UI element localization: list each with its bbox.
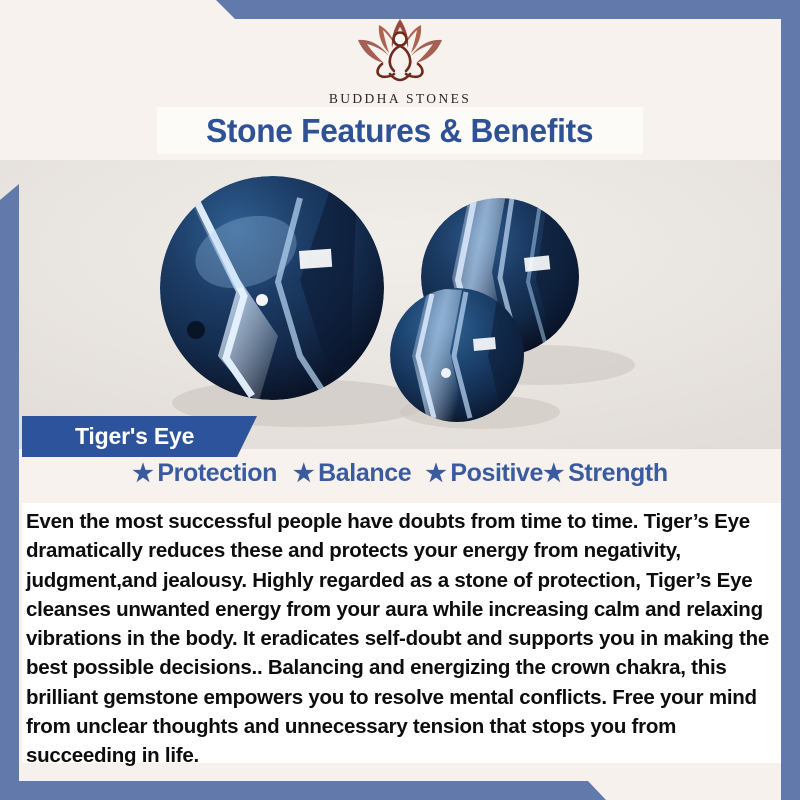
benefit-item-balance: ★ Balance <box>293 459 411 488</box>
stone-photo-illustration <box>0 160 800 449</box>
benefit-item-strength: ★ Strength <box>543 459 668 488</box>
description-text: Even the most successful people have dou… <box>22 503 782 771</box>
benefits-list: ★ Protection ★ Balance ★ Positive ★ Stre… <box>0 459 800 488</box>
stone-photo <box>0 160 800 449</box>
frame-accent-right <box>781 0 800 800</box>
benefit-label: Balance <box>318 459 411 488</box>
benefit-label: Positive <box>450 459 543 488</box>
benefit-label: Strength <box>568 459 668 488</box>
description-panel: Even the most successful people have dou… <box>22 503 782 763</box>
lotus-meditation-logo-icon <box>334 12 466 90</box>
benefit-item-protection: ★ Protection <box>132 459 277 488</box>
poster-canvas: BUDDHA STONES Stone Features & Benefits … <box>0 0 800 800</box>
stone-name: Tiger's Eye <box>22 423 194 450</box>
star-icon: ★ <box>293 462 314 486</box>
brand-logo: BUDDHA STONES <box>0 12 800 107</box>
star-icon: ★ <box>425 462 446 486</box>
frame-accent-bottom <box>0 781 640 800</box>
frame-accent-left <box>0 184 19 800</box>
benefit-item-positive: ★ Positive <box>425 459 543 488</box>
star-icon: ★ <box>132 462 153 486</box>
benefits-strip: ★ Protection ★ Balance ★ Positive ★ Stre… <box>0 449 800 503</box>
page-title: Stone Features & Benefits <box>206 112 593 150</box>
title-banner: Stone Features & Benefits <box>157 107 643 154</box>
stone-name-banner: Tiger's Eye <box>22 416 257 457</box>
benefit-label: Protection <box>157 459 277 488</box>
brand-name: BUDDHA STONES <box>0 91 800 107</box>
star-icon: ★ <box>543 462 564 486</box>
